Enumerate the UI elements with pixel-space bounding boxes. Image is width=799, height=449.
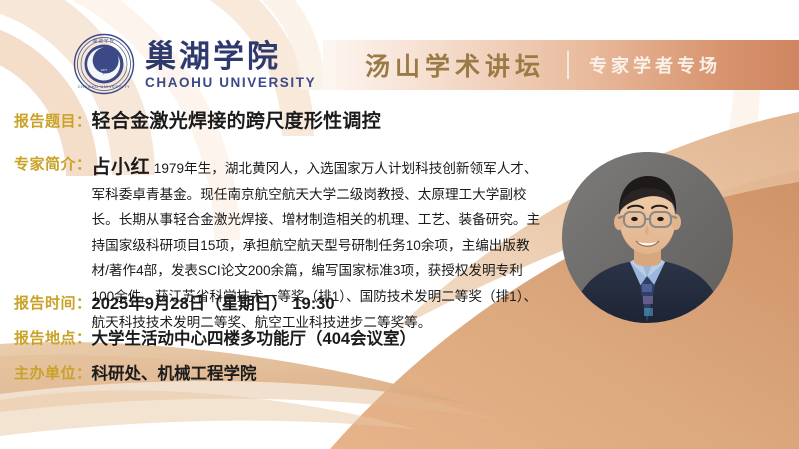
vertical-divider-icon	[567, 51, 569, 79]
university-name-en: CHAOHU UNIVERSITY	[145, 75, 316, 91]
svg-text:1977: 1977	[101, 68, 108, 72]
speaker-name: 占小红	[92, 157, 151, 178]
university-logo: CHAOHU UNIVERSITY 巢湖学院 1977 巢湖学院 CHAOHU …	[73, 33, 316, 95]
report-time-label: 报告时间：	[14, 292, 92, 316]
decor-tail-left	[0, 390, 420, 436]
banner-sub-title: 专家学者专场	[589, 52, 721, 78]
university-name-cn: 巢湖学院	[145, 40, 316, 74]
report-place-label: 报告地点：	[14, 327, 92, 351]
university-logo-text: 巢湖学院 CHAOHU UNIVERSITY	[145, 38, 316, 91]
svg-text:CHAOHU UNIVERSITY: CHAOHU UNIVERSITY	[78, 84, 131, 89]
report-host-value: 科研处、机械工程学院	[92, 362, 257, 386]
report-title-value: 轻合金激光焊接的跨尺度形性调控	[92, 108, 382, 136]
report-host-label: 主办单位：	[14, 362, 92, 386]
report-time-value: 2025年9月28日（星期日） 19:30	[92, 292, 335, 316]
poster-header: CHAOHU UNIVERSITY 巢湖学院 1977 巢湖学院 CHAOHU …	[0, 0, 799, 104]
report-place-value: 大学生活动中心四楼多功能厅（404会议室）	[92, 327, 417, 351]
report-title-row: 报告题目： 轻合金激光焊接的跨尺度形性调控	[14, 108, 381, 136]
report-title-label: 报告题目：	[14, 108, 92, 136]
chaohu-university-emblem-icon: CHAOHU UNIVERSITY 巢湖学院 1977	[73, 33, 135, 95]
report-host-row: 主办单位： 科研处、机械工程学院	[14, 362, 257, 386]
speaker-portrait-photo	[562, 152, 733, 323]
lecture-series-banner: 汤山学术讲坛 专家学者专场	[323, 40, 799, 90]
svg-text:巢湖学院: 巢湖学院	[93, 38, 115, 45]
poster-canvas: CHAOHU UNIVERSITY 巢湖学院 1977 巢湖学院 CHAOHU …	[0, 0, 799, 449]
report-place-row: 报告地点： 大学生活动中心四楼多功能厅（404会议室）	[14, 327, 416, 351]
speaker-bio-label: 专家简介：	[14, 152, 92, 178]
banner-main-title: 汤山学术讲坛	[365, 47, 545, 83]
report-time-row: 报告时间： 2025年9月28日（星期日） 19:30	[14, 292, 335, 316]
